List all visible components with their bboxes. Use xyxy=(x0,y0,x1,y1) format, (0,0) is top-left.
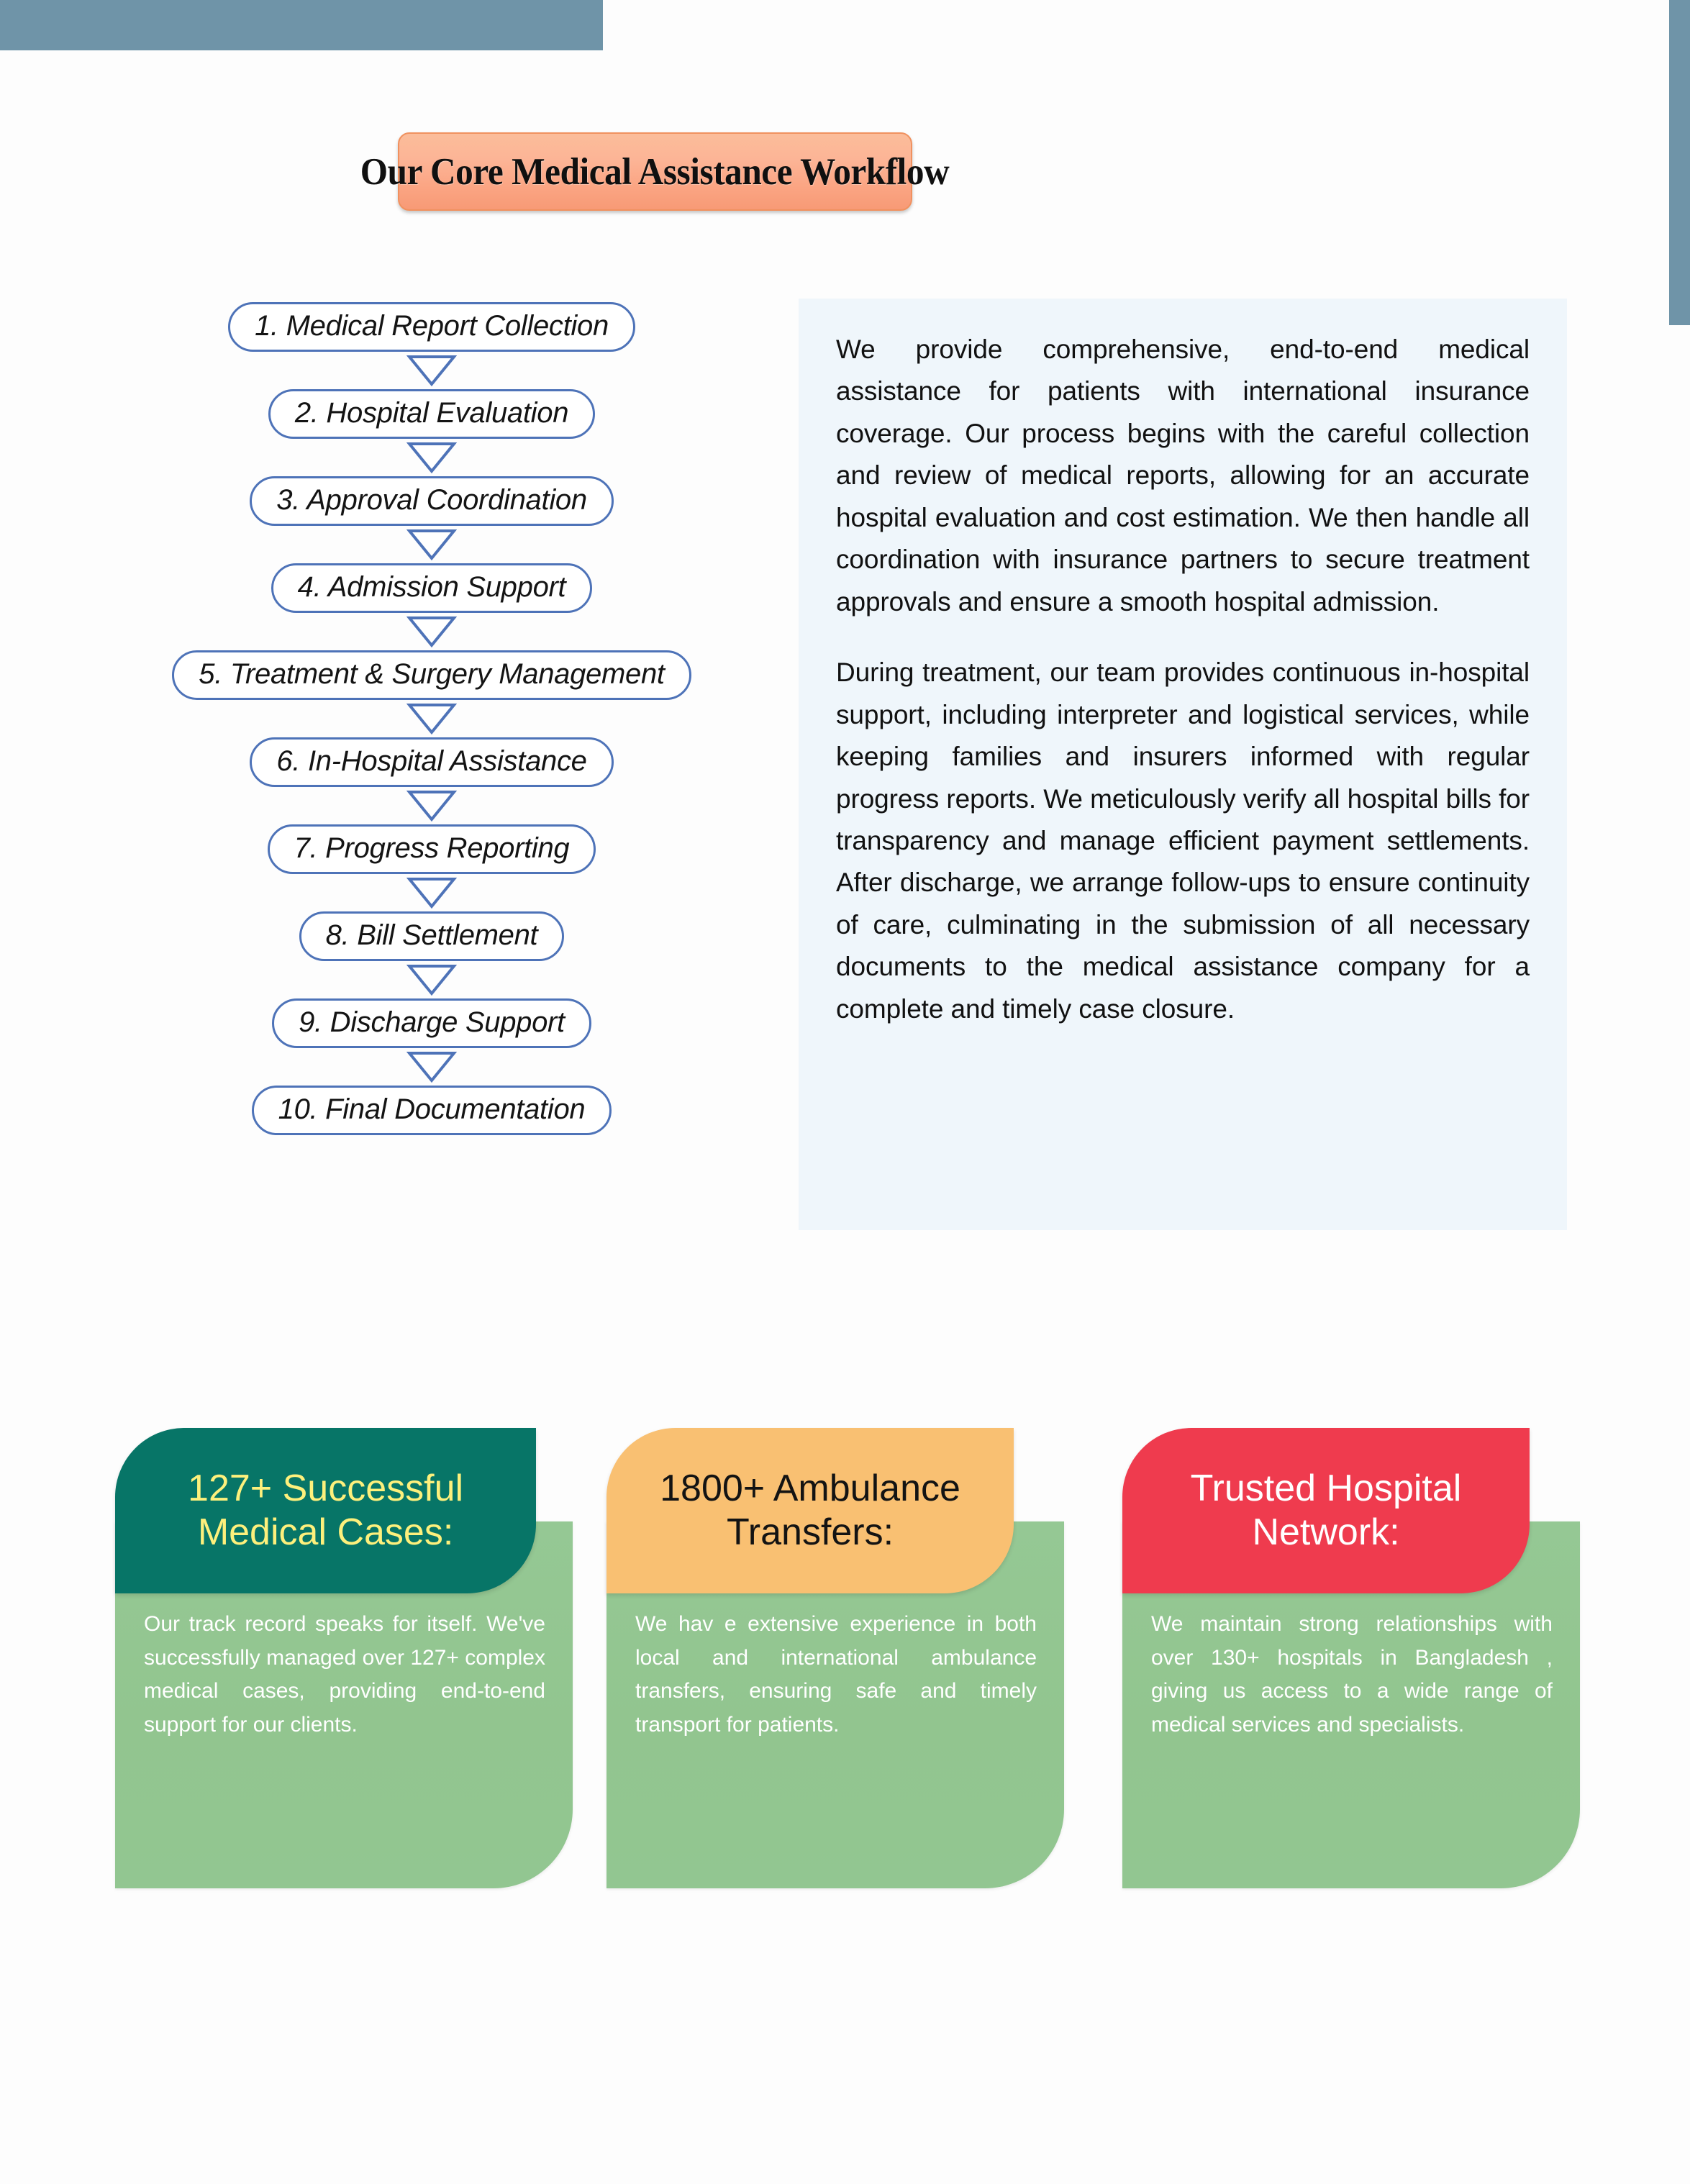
flow-step-5[interactable]: 5. Treatment & Surgery Management xyxy=(172,650,691,700)
top-left-accent-bar xyxy=(0,0,603,50)
down-arrow-icon xyxy=(108,528,755,561)
description-panel: We provide comprehensive, end-to-end med… xyxy=(799,299,1567,1230)
workflow-flowchart: 1. Medical Report Collection 2. Hospital… xyxy=(108,302,755,1135)
down-arrow-icon xyxy=(108,963,755,996)
card-body-text: We hav e extensive experience in both lo… xyxy=(635,1608,1037,1742)
flow-step-row: 7. Progress Reporting xyxy=(108,824,755,874)
down-arrow-icon xyxy=(108,702,755,735)
down-arrow-icon xyxy=(108,876,755,909)
card-header: Trusted Hospital Network: xyxy=(1122,1428,1530,1593)
right-accent-bar xyxy=(1669,0,1690,325)
highlight-cards: Our track record speaks for itself. We'v… xyxy=(0,1428,1690,1917)
flow-step-row: 5. Treatment & Surgery Management xyxy=(108,650,755,700)
flow-step-row: 10. Final Documentation xyxy=(108,1086,755,1135)
card-heading: 127+ Successful Medical Cases: xyxy=(115,1467,536,1555)
flow-step-7[interactable]: 7. Progress Reporting xyxy=(268,824,596,874)
flow-step-3[interactable]: 3. Approval Coordination xyxy=(250,476,614,526)
flow-step-row: 6. In-Hospital Assistance xyxy=(108,737,755,787)
page-title: Our Core Medical Assistance Workflow xyxy=(360,150,949,194)
card-body-text: We maintain strong relationships with ov… xyxy=(1151,1608,1553,1742)
flow-step-1[interactable]: 1. Medical Report Collection xyxy=(228,302,635,352)
card-header: 1800+ Ambulance Transfers: xyxy=(607,1428,1014,1593)
flow-step-9[interactable]: 9. Discharge Support xyxy=(272,998,591,1048)
flow-step-6[interactable]: 6. In-Hospital Assistance xyxy=(250,737,613,787)
description-paragraph-2: During treatment, our team provides cont… xyxy=(836,652,1530,1030)
card-body-text: Our track record speaks for itself. We'v… xyxy=(144,1608,545,1742)
down-arrow-icon xyxy=(108,441,755,474)
flow-step-row: 8. Bill Settlement xyxy=(108,911,755,961)
flow-step-row: 2. Hospital Evaluation xyxy=(108,389,755,439)
down-arrow-icon xyxy=(108,615,755,648)
flow-step-10[interactable]: 10. Final Documentation xyxy=(252,1086,612,1135)
page-title-banner: Our Core Medical Assistance Workflow xyxy=(398,132,912,211)
down-arrow-icon xyxy=(108,354,755,387)
flow-step-4[interactable]: 4. Admission Support xyxy=(271,563,593,613)
flow-step-2[interactable]: 2. Hospital Evaluation xyxy=(268,389,595,439)
card-heading: 1800+ Ambulance Transfers: xyxy=(607,1467,1014,1555)
description-paragraph-1: We provide comprehensive, end-to-end med… xyxy=(836,329,1530,623)
down-arrow-icon xyxy=(108,789,755,822)
flow-step-row: 4. Admission Support xyxy=(108,563,755,613)
flow-step-row: 9. Discharge Support xyxy=(108,998,755,1048)
card-header: 127+ Successful Medical Cases: xyxy=(115,1428,536,1593)
down-arrow-icon xyxy=(108,1050,755,1083)
flow-step-row: 3. Approval Coordination xyxy=(108,476,755,526)
flow-step-8[interactable]: 8. Bill Settlement xyxy=(299,911,565,961)
flow-step-row: 1. Medical Report Collection xyxy=(108,302,755,352)
card-heading: Trusted Hospital Network: xyxy=(1122,1467,1530,1555)
